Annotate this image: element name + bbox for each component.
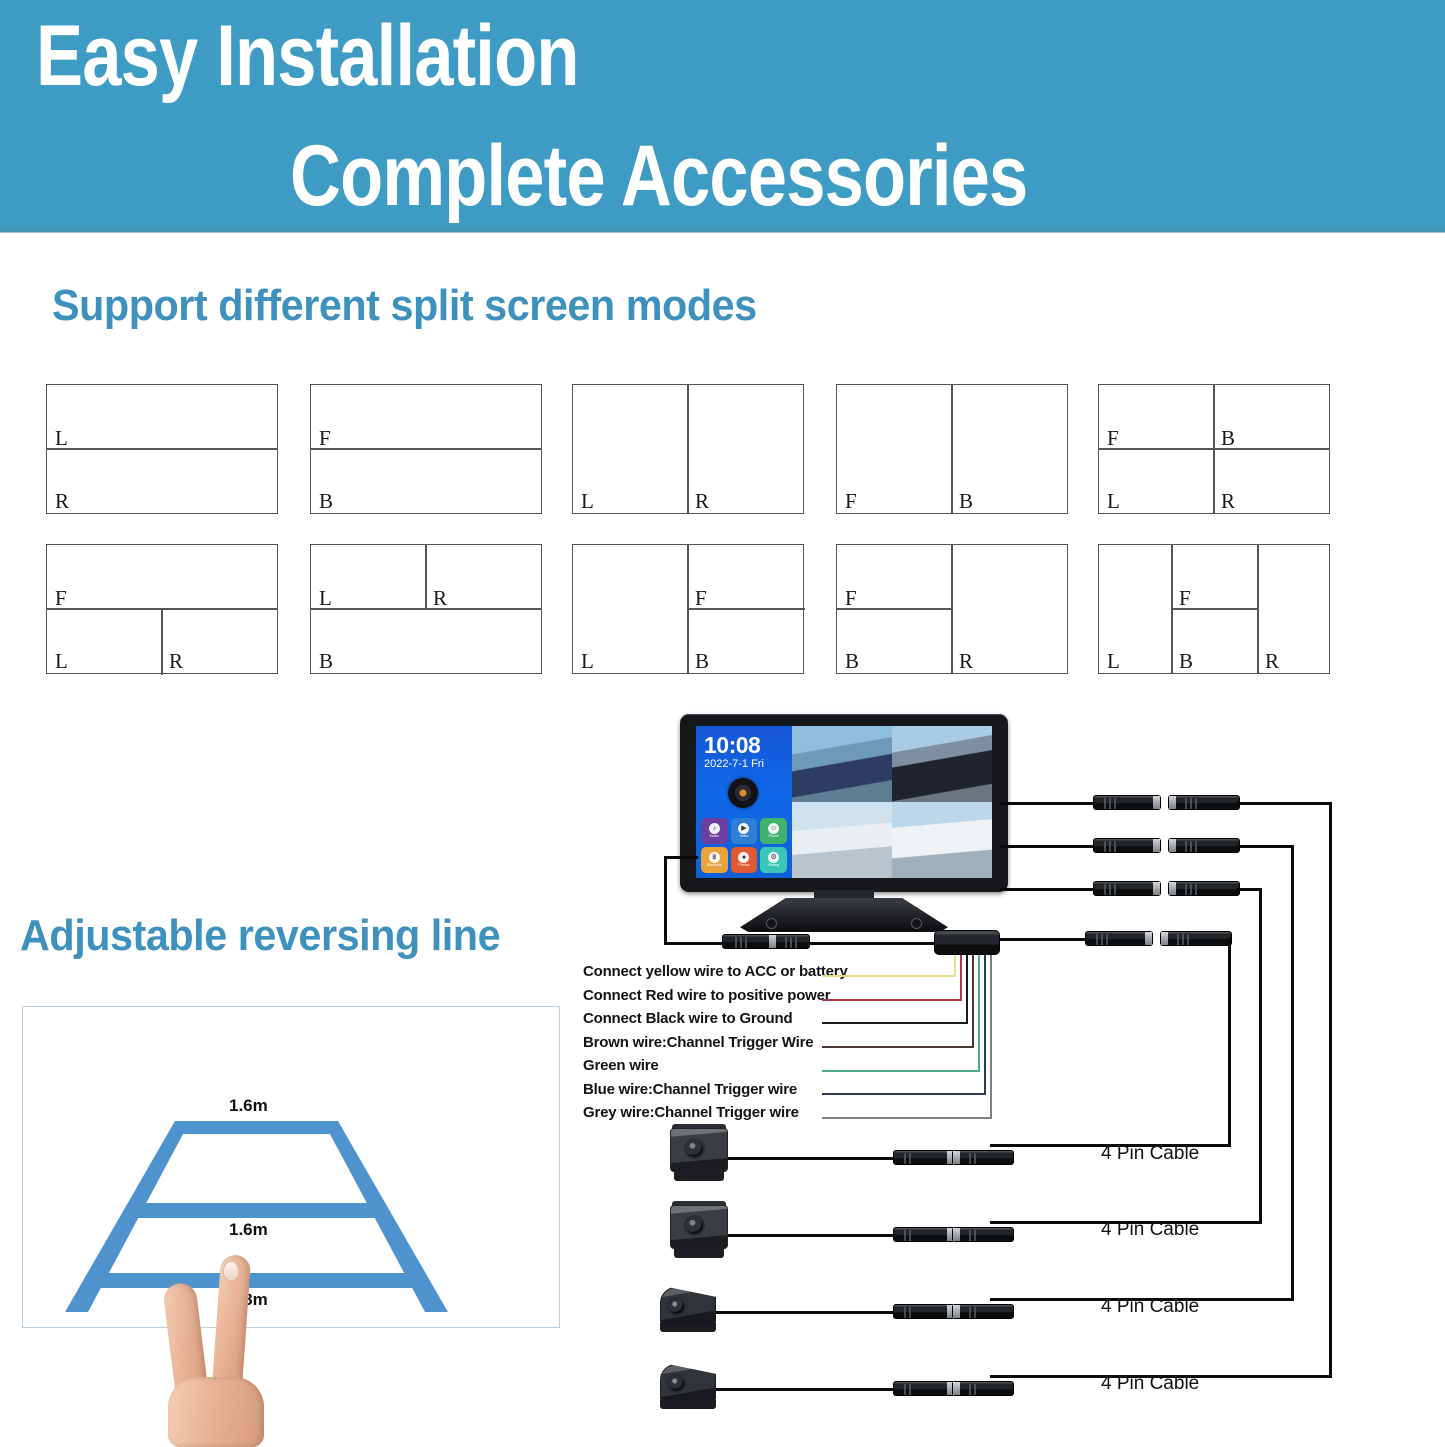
channel-wire xyxy=(1000,802,1100,805)
wire-splitter-box xyxy=(934,930,1000,955)
divider xyxy=(951,545,953,673)
reversing-line-heading: Adjustable reversing line xyxy=(20,911,500,961)
divider xyxy=(425,545,427,608)
channel-wire xyxy=(1291,845,1294,1300)
connector-ring xyxy=(1169,839,1176,852)
legend-text: Connect Black wire to Ground xyxy=(583,1010,792,1027)
app-music[interactable]: ♪ Music xyxy=(701,818,728,844)
legend-row: Connect Red wire to positive power xyxy=(583,986,943,1010)
wire-brown xyxy=(972,955,974,1047)
connector-ring xyxy=(1153,839,1160,852)
app-setting[interactable]: ⚙ Setting xyxy=(760,847,787,873)
wire-yellow xyxy=(954,955,956,976)
monitor-screen[interactable]: 10:08 2022-7-1 Fri ♪ Music ▶ Video ☺ Pho… xyxy=(696,726,992,878)
wire-brown xyxy=(822,1046,974,1048)
banner-title-line2: Complete Accessories xyxy=(290,128,1445,224)
segment-label: R xyxy=(1221,491,1235,512)
camera-view-tile[interactable] xyxy=(792,726,892,802)
camera-cable xyxy=(728,1157,900,1160)
camera-connector xyxy=(952,1304,1014,1319)
camera-cable xyxy=(728,1234,900,1237)
channel-connector xyxy=(1160,931,1232,946)
base-screw xyxy=(911,918,922,929)
legend-row: Connect Black wire to Ground xyxy=(583,1009,943,1033)
legend-text: Blue wire:Channel Trigger wire xyxy=(583,1081,797,1098)
channel-wire xyxy=(1236,802,1332,805)
connector-ring xyxy=(953,1228,960,1241)
app-label: Phone xyxy=(768,835,778,839)
legend-text: Green wire xyxy=(583,1057,659,1074)
segment-label: F xyxy=(1107,428,1119,449)
pointing-hand xyxy=(150,1255,325,1445)
segment-label: B xyxy=(1179,651,1193,672)
segment-label: L xyxy=(581,491,594,512)
palm xyxy=(168,1377,264,1447)
connector-ring xyxy=(1153,882,1160,895)
legend-row: Blue wire:Channel Trigger wire xyxy=(583,1080,943,1104)
wire-yellow xyxy=(822,975,956,977)
fingernail xyxy=(223,1261,239,1281)
channel-wire xyxy=(1000,888,1100,891)
divider xyxy=(951,385,953,513)
camera-view-grid xyxy=(792,726,992,878)
segment-label: B xyxy=(1221,428,1235,449)
camera-connector xyxy=(893,1381,955,1396)
camera-connector xyxy=(893,1304,955,1319)
split-mode-5: F B L R xyxy=(1098,384,1330,514)
divider xyxy=(1257,545,1259,673)
segment-label: F xyxy=(695,588,707,609)
channel-connector xyxy=(1168,838,1240,853)
banner-title-line1: Easy Installation xyxy=(36,8,1221,104)
channel-connector xyxy=(1093,838,1161,853)
camera-view-tile[interactable] xyxy=(792,802,892,878)
segment-label: B xyxy=(319,491,333,512)
camera-side-4 xyxy=(660,1360,720,1414)
camera-side-3 xyxy=(660,1283,720,1337)
app-label: Bluetooth xyxy=(707,864,722,868)
app-label: Setting xyxy=(768,864,779,868)
monitor-power-wire xyxy=(664,856,667,944)
clock-date: 2022-7-1 Fri xyxy=(704,758,764,770)
legend-text: Brown wire:Channel Trigger Wire xyxy=(583,1034,813,1051)
dashboard-monitor: 10:08 2022-7-1 Fri ♪ Music ▶ Video ☺ Pho… xyxy=(676,714,1012,938)
monitor-home-panel: 10:08 2022-7-1 Fri ♪ Music ▶ Video ☺ Pho… xyxy=(696,726,792,878)
segment-label: L xyxy=(581,651,594,672)
segment-label: L xyxy=(55,651,68,672)
split-mode-7: L R B xyxy=(310,544,542,674)
wire-blue xyxy=(822,1093,986,1095)
segment-label: L xyxy=(319,588,332,609)
legend-row: Green wire xyxy=(583,1056,943,1080)
divider xyxy=(311,448,541,450)
segment-label: B xyxy=(319,651,333,672)
monitor-bezel: 10:08 2022-7-1 Fri ♪ Music ▶ Video ☺ Pho… xyxy=(680,714,1008,892)
camera-mount xyxy=(660,1400,716,1409)
split-mode-9: F B R xyxy=(836,544,1068,674)
legend-row: Grey wire:Channel Trigger wire xyxy=(583,1103,943,1127)
header-banner: Easy Installation Complete Accessories xyxy=(0,0,1445,232)
monitor-base xyxy=(740,898,948,932)
connector-ring xyxy=(953,1382,960,1395)
music-icon: ♪ xyxy=(709,823,720,834)
split-mode-1: L R xyxy=(46,384,278,514)
app-label: Music xyxy=(710,835,719,839)
split-mode-4: F B xyxy=(836,384,1068,514)
connector-ring xyxy=(1169,796,1176,809)
app-phone[interactable]: ☺ Phone xyxy=(760,818,787,844)
camera-lens-icon xyxy=(667,1297,686,1316)
split-mode-3: L R xyxy=(572,384,804,514)
connector-ring xyxy=(953,1305,960,1318)
gear-icon: ⚙ xyxy=(768,852,779,863)
app-bluetooth[interactable]: ฿ Bluetooth xyxy=(701,847,728,873)
segment-label: F xyxy=(1179,588,1191,609)
pin-cable-label: 4 Pin Cable xyxy=(1101,1219,1199,1241)
split-screen-mode-grid: L R F B L R F B F B L R F L R L xyxy=(0,372,1445,682)
split-mode-6: F L R xyxy=(46,544,278,674)
segment-label: L xyxy=(55,428,68,449)
camera-connector xyxy=(893,1150,955,1165)
camera-connector xyxy=(952,1150,1014,1165)
wire-black xyxy=(822,1022,968,1024)
reversing-dimension-top: 1.6m xyxy=(229,1096,268,1116)
banner-bottom-edge xyxy=(0,228,1445,233)
monitor-power-wire xyxy=(664,856,698,859)
inline-connector xyxy=(722,934,810,949)
connector-ring xyxy=(1153,796,1160,809)
segment-label: B xyxy=(845,651,859,672)
segment-label: R xyxy=(1265,651,1279,672)
reversing-dimension-middle: 1.6m xyxy=(229,1220,268,1240)
app-video[interactable]: ▶ Video xyxy=(731,818,758,844)
camera-mount xyxy=(674,1170,724,1181)
app-label: Video xyxy=(739,835,748,839)
segment-label: R xyxy=(433,588,447,609)
wire-grey xyxy=(822,1117,992,1119)
camera-view-tile[interactable] xyxy=(892,802,992,878)
divider xyxy=(161,608,163,675)
segment-label: R xyxy=(169,651,183,672)
camera-connector xyxy=(952,1381,1014,1396)
channel-wire xyxy=(1000,845,1100,848)
divider xyxy=(687,385,689,513)
wire-red xyxy=(822,999,962,1001)
base-screw xyxy=(766,918,777,929)
connector-ring xyxy=(1145,932,1152,945)
segment-label: F xyxy=(845,491,857,512)
bluetooth-icon: ฿ xyxy=(709,852,720,863)
camera-box-2 xyxy=(670,1205,730,1261)
split-mode-10: L F B R xyxy=(1098,544,1330,674)
camera-box-1 xyxy=(670,1128,730,1184)
segment-label: F xyxy=(319,428,331,449)
segment-label: R xyxy=(695,491,709,512)
divider xyxy=(1213,385,1215,513)
segment-label: L xyxy=(1107,491,1120,512)
segment-label: R xyxy=(959,651,973,672)
wiring-legend: Connect yellow wire to ACC or battery Co… xyxy=(583,962,943,1127)
camera-cable xyxy=(716,1311,900,1314)
channel-wire xyxy=(1000,938,1092,941)
channel-wire xyxy=(1259,888,1262,1224)
divider xyxy=(311,608,541,610)
connector-ring xyxy=(1161,932,1168,945)
pin-cable-label: 4 Pin Cable xyxy=(1101,1373,1199,1395)
camera-cable xyxy=(716,1388,900,1391)
divider xyxy=(47,448,277,450)
connector-ring xyxy=(1169,882,1176,895)
wire-red xyxy=(960,955,962,1000)
camera-lens-icon xyxy=(684,1138,705,1159)
legend-text: Grey wire:Channel Trigger wire xyxy=(583,1104,799,1121)
channel-wire xyxy=(1228,938,1231,1146)
legend-text: Connect Red wire to positive power xyxy=(583,987,830,1004)
camera-connector xyxy=(952,1227,1014,1242)
split-mode-2: F B xyxy=(310,384,542,514)
legend-text: Connect yellow wire to ACC or battery xyxy=(583,963,848,980)
segment-label: F xyxy=(55,588,67,609)
legend-row: Brown wire:Channel Trigger Wire xyxy=(583,1033,943,1057)
app-photos[interactable]: ● Photos xyxy=(731,847,758,873)
wire-green xyxy=(822,1070,980,1072)
wire-green xyxy=(978,955,980,1071)
segment-label: B xyxy=(959,491,973,512)
media-disc-icon xyxy=(728,778,758,808)
camera-mount xyxy=(660,1323,716,1332)
connector-ring xyxy=(953,1151,960,1164)
camera-lens-icon xyxy=(667,1374,686,1393)
channel-connector xyxy=(1093,795,1161,810)
app-label: Photos xyxy=(738,864,749,868)
split-screen-heading: Support different split screen modes xyxy=(52,281,757,331)
clock-time: 10:08 xyxy=(704,732,760,759)
camera-mount xyxy=(674,1247,724,1258)
photos-icon: ● xyxy=(738,852,749,863)
segment-label: R xyxy=(55,491,69,512)
legend-row: Connect yellow wire to ACC or battery xyxy=(583,962,943,986)
wire-black xyxy=(966,955,968,1023)
phone-icon: ☺ xyxy=(768,823,779,834)
pin-cable-label: 4 Pin Cable xyxy=(1101,1296,1199,1318)
wire-grey xyxy=(990,955,992,1118)
connector-ring xyxy=(769,935,776,948)
camera-view-tile[interactable] xyxy=(892,726,992,802)
segment-label: B xyxy=(695,651,709,672)
channel-wire xyxy=(1236,845,1294,848)
channel-connector xyxy=(1093,881,1161,896)
camera-connector xyxy=(893,1227,955,1242)
app-grid: ♪ Music ▶ Video ☺ Phone ฿ Bluetooth xyxy=(701,818,787,873)
wire-blue xyxy=(984,955,986,1094)
channel-connector xyxy=(1085,931,1153,946)
split-mode-8: L F B xyxy=(572,544,804,674)
channel-connector xyxy=(1168,795,1240,810)
segment-label: L xyxy=(1107,651,1120,672)
camera-lens-icon xyxy=(684,1215,705,1236)
segment-label: F xyxy=(845,588,857,609)
channel-connector xyxy=(1168,881,1240,896)
pin-cable-label: 4 Pin Cable xyxy=(1101,1143,1199,1165)
channel-wire xyxy=(1329,802,1332,1378)
video-icon: ▶ xyxy=(738,823,749,834)
